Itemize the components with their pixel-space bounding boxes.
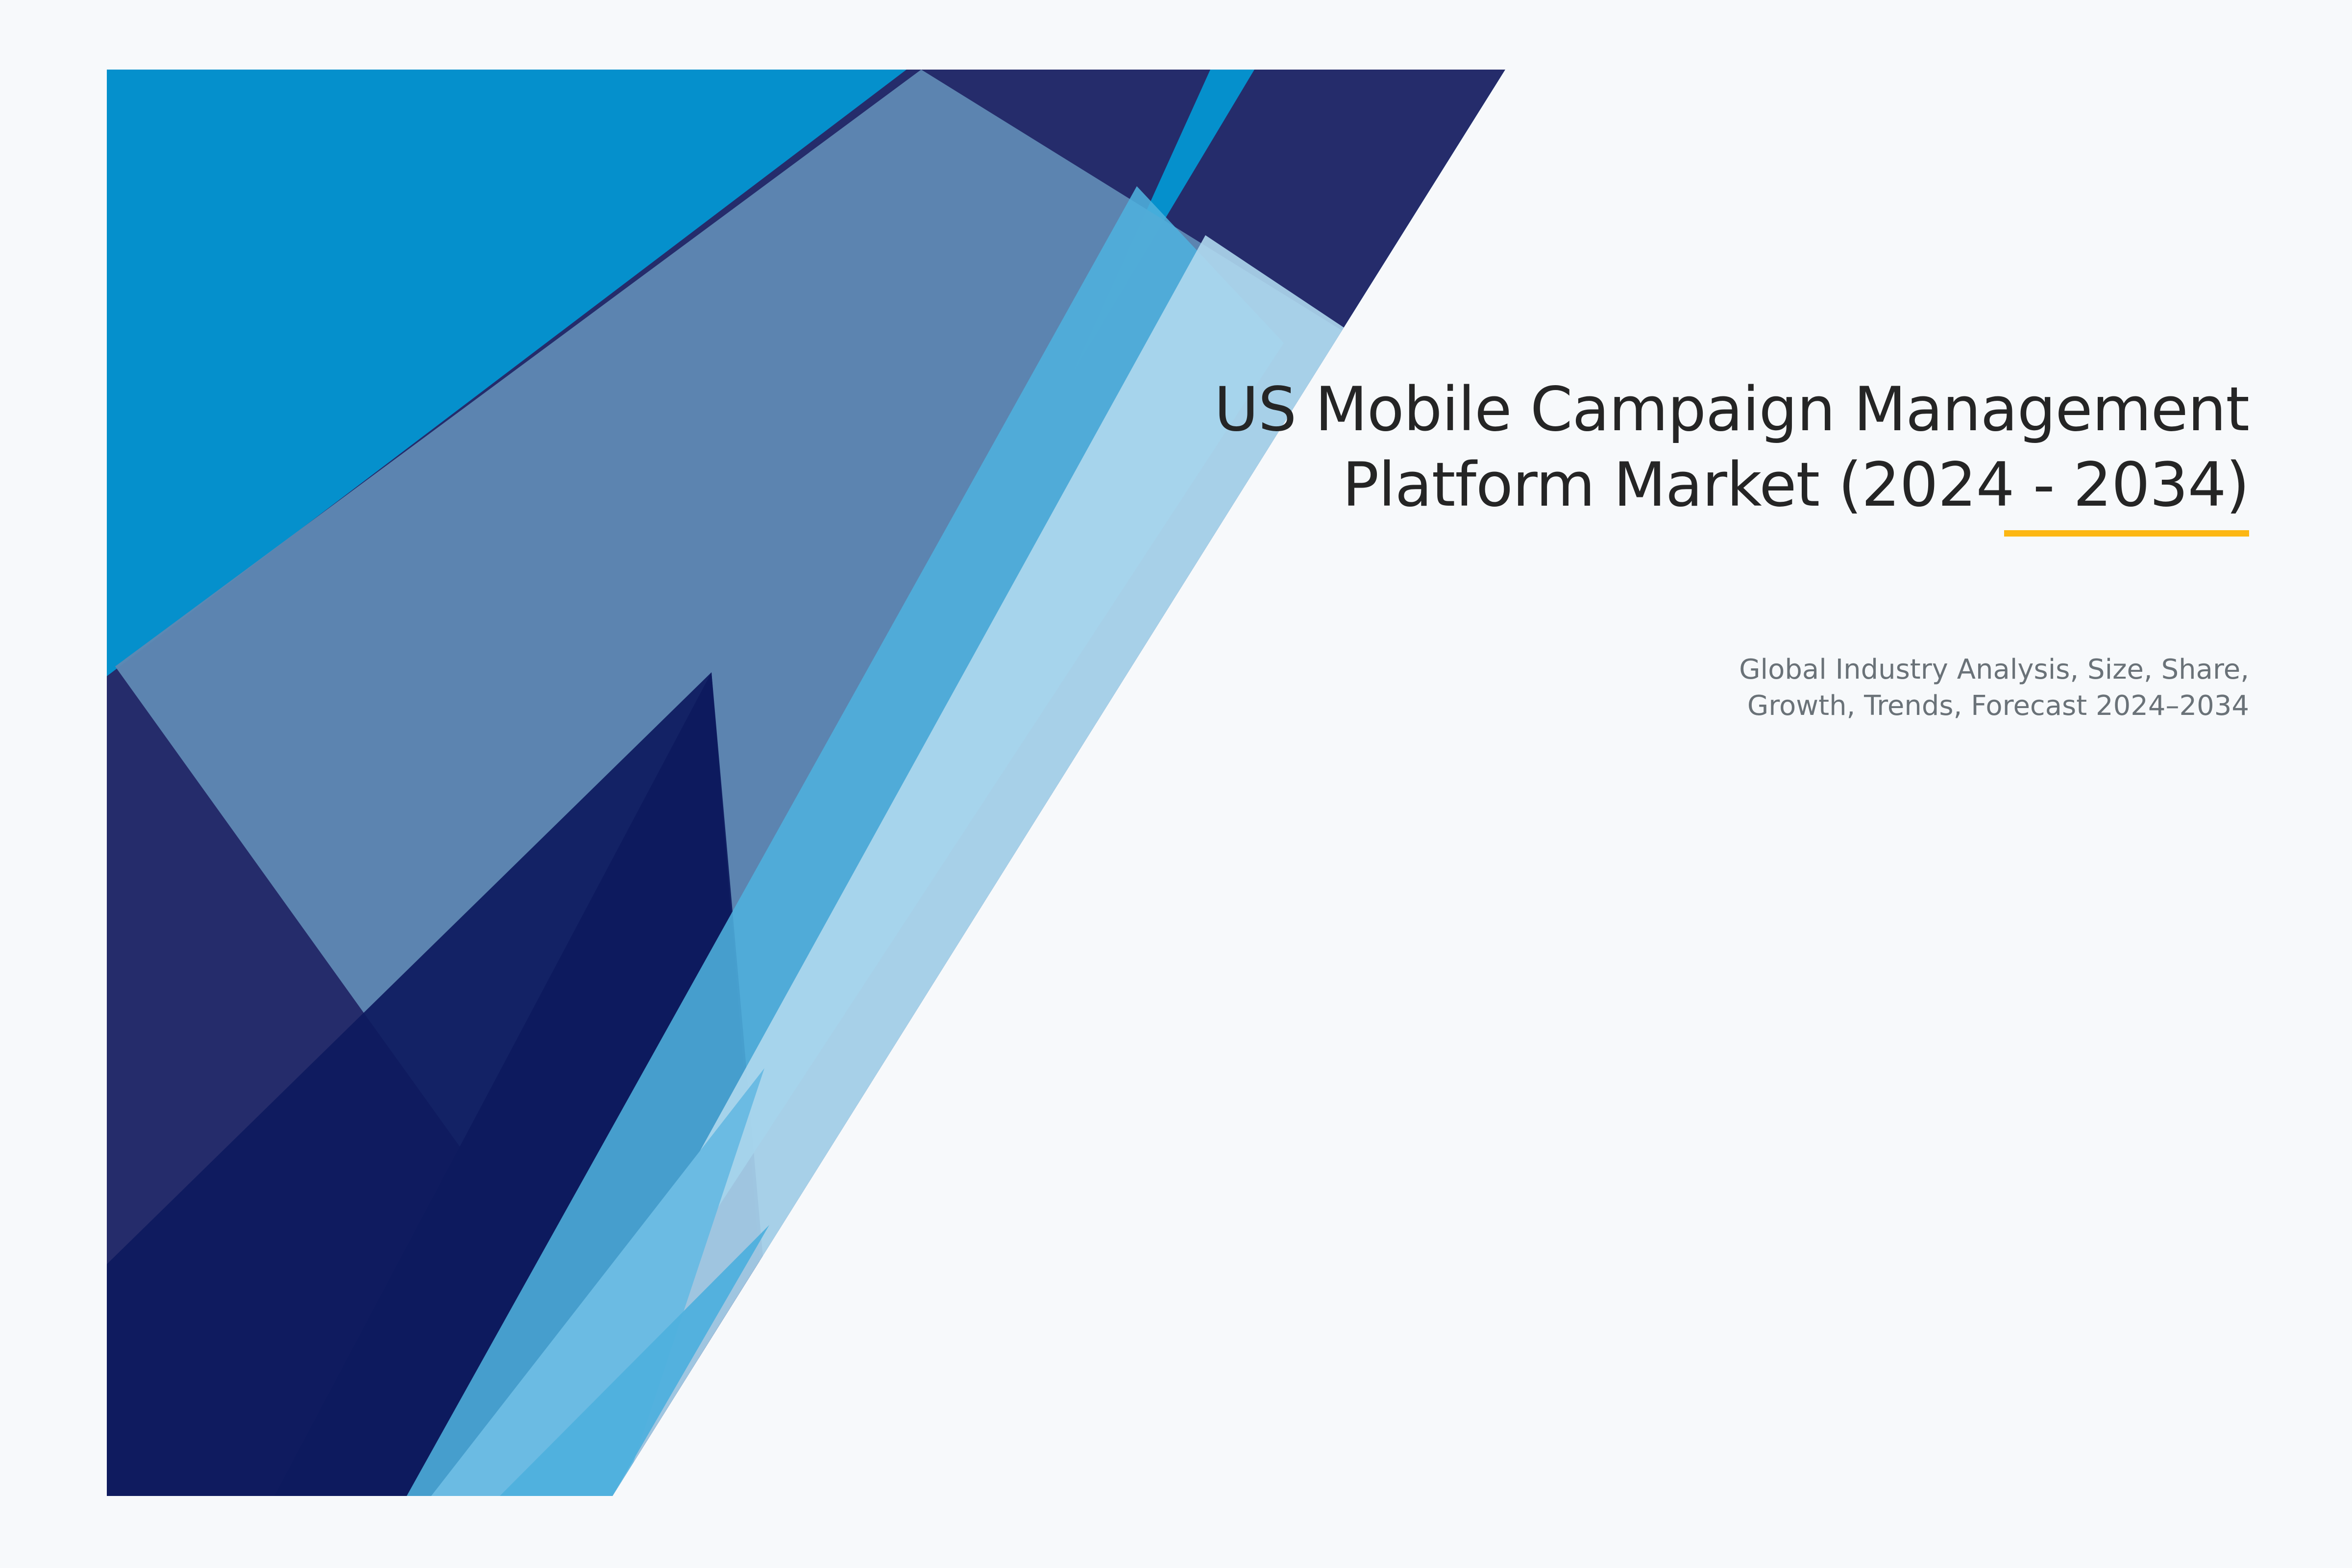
page-subtitle-line-2: Growth, Trends, Forecast 2024–2034 <box>1274 688 2249 724</box>
page-title-line-1: US Mobile Campaign Management <box>784 372 2249 448</box>
abstract-geometric-cover-graphic <box>0 0 2352 1568</box>
page-subtitle: Global Industry Analysis, Size, Share, G… <box>1274 652 2249 725</box>
page-title-line-2: Platform Market (2024 - 2034) <box>784 448 2249 523</box>
page-title: US Mobile Campaign Management Platform M… <box>784 372 2249 523</box>
title-accent-underline <box>2004 530 2249 537</box>
report-cover-page: US Mobile Campaign Management Platform M… <box>0 0 2352 1568</box>
page-subtitle-line-1: Global Industry Analysis, Size, Share, <box>1274 652 2249 688</box>
